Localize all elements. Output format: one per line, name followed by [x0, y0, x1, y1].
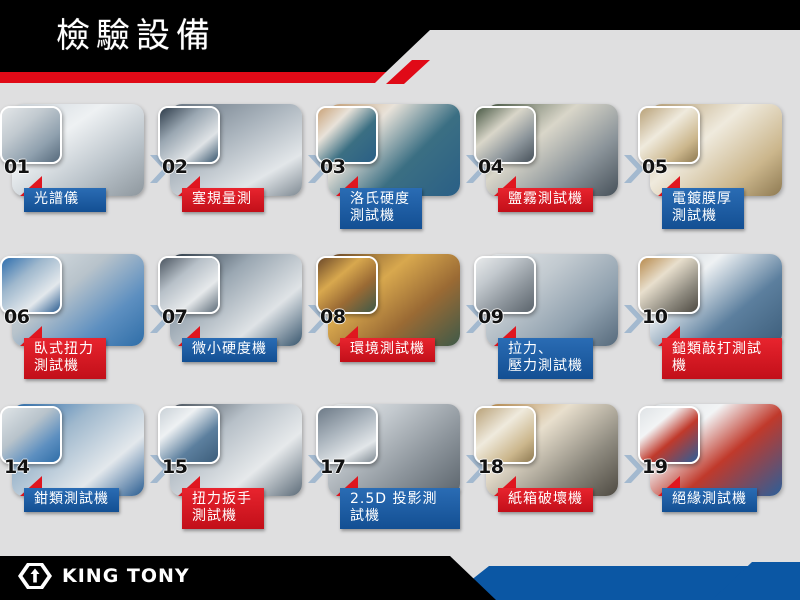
equipment-number: 10 — [642, 306, 667, 328]
equipment-label: 拉力、 壓力測試機 — [498, 338, 593, 379]
equipment-label: 鉗類測試機 — [24, 488, 119, 512]
equipment-label: 扭力扳手 測試機 — [182, 488, 264, 529]
equipment-thumbnail-image — [318, 108, 376, 162]
equipment-card-07[interactable]: 07微小硬度機 — [158, 254, 302, 368]
slide-root: 檢驗設備 01光譜儀02塞規量測03洛氏硬度 測試機04鹽霧測試機05電鍍膜厚 … — [0, 0, 800, 600]
equipment-number: 08 — [320, 306, 345, 328]
equipment-thumbnail-image — [476, 408, 534, 462]
king-tony-hex-wrench-logo-icon — [18, 563, 52, 589]
equipment-thumbnail-image — [160, 108, 218, 162]
brand-logo: KING TONY — [18, 563, 190, 589]
equipment-card-15[interactable]: 15扭力扳手 測試機 — [158, 404, 302, 518]
equipment-number: 03 — [320, 156, 345, 178]
equipment-card-04[interactable]: 04鹽霧測試機 — [474, 104, 618, 218]
equipment-label: 絕緣測試機 — [662, 488, 757, 512]
equipment-label: 紙箱破壞機 — [498, 488, 593, 512]
equipment-card-03[interactable]: 03洛氏硬度 測試機 — [316, 104, 460, 218]
equipment-thumbnail-image — [640, 408, 698, 462]
equipment-card-08[interactable]: 08環境測試機 — [316, 254, 460, 368]
equipment-grid: 01光譜儀02塞規量測03洛氏硬度 測試機04鹽霧測試機05電鍍膜厚 測試機06… — [0, 92, 800, 548]
equipment-number: 01 — [4, 156, 29, 178]
equipment-thumbnail-image — [160, 258, 218, 312]
equipment-number: 02 — [162, 156, 187, 178]
equipment-thumbnail-image — [2, 108, 60, 162]
equipment-number: 19 — [642, 456, 667, 478]
equipment-card-05[interactable]: 05電鍍膜厚 測試機 — [638, 104, 782, 218]
equipment-label: 鎚類敲打測試機 — [662, 338, 782, 379]
brand-name: KING TONY — [62, 565, 190, 587]
equipment-thumbnail-image — [640, 108, 698, 162]
equipment-thumbnail-image — [476, 108, 534, 162]
equipment-card-01[interactable]: 01光譜儀 — [0, 104, 144, 218]
equipment-label: 鹽霧測試機 — [498, 188, 593, 212]
equipment-label: 電鍍膜厚 測試機 — [662, 188, 744, 229]
equipment-number: 17 — [320, 456, 345, 478]
equipment-label: 光譜儀 — [24, 188, 106, 212]
equipment-card-14[interactable]: 14鉗類測試機 — [0, 404, 144, 518]
equipment-label: 塞規量測 — [182, 188, 264, 212]
equipment-thumbnail-image — [318, 408, 376, 462]
equipment-number: 15 — [162, 456, 187, 478]
equipment-thumbnail-image — [160, 408, 218, 462]
equipment-number: 09 — [478, 306, 503, 328]
equipment-card-19[interactable]: 19絕緣測試機 — [638, 404, 782, 518]
equipment-label: 環境測試機 — [340, 338, 435, 362]
equipment-card-18[interactable]: 18紙箱破壞機 — [474, 404, 618, 518]
equipment-card-02[interactable]: 02塞規量測 — [158, 104, 302, 218]
equipment-number: 05 — [642, 156, 667, 178]
equipment-thumbnail-image — [318, 258, 376, 312]
equipment-number: 04 — [478, 156, 503, 178]
equipment-label: 臥式扭力 測試機 — [24, 338, 106, 379]
equipment-card-06[interactable]: 06臥式扭力 測試機 — [0, 254, 144, 368]
equipment-number: 18 — [478, 456, 503, 478]
equipment-thumbnail-image — [2, 258, 60, 312]
equipment-number: 06 — [4, 306, 29, 328]
equipment-card-09[interactable]: 09拉力、 壓力測試機 — [474, 254, 618, 368]
equipment-number: 14 — [4, 456, 29, 478]
page-title: 檢驗設備 — [56, 8, 216, 57]
equipment-number: 07 — [162, 306, 187, 328]
equipment-thumbnail-image — [640, 258, 698, 312]
equipment-thumbnail-image — [2, 408, 60, 462]
equipment-label: 2.5D 投影測試機 — [340, 488, 460, 529]
equipment-label: 微小硬度機 — [182, 338, 277, 362]
equipment-card-10[interactable]: 10鎚類敲打測試機 — [638, 254, 782, 368]
equipment-thumbnail-image — [476, 258, 534, 312]
equipment-label: 洛氏硬度 測試機 — [340, 188, 422, 229]
equipment-card-17[interactable]: 172.5D 投影測試機 — [316, 404, 460, 518]
